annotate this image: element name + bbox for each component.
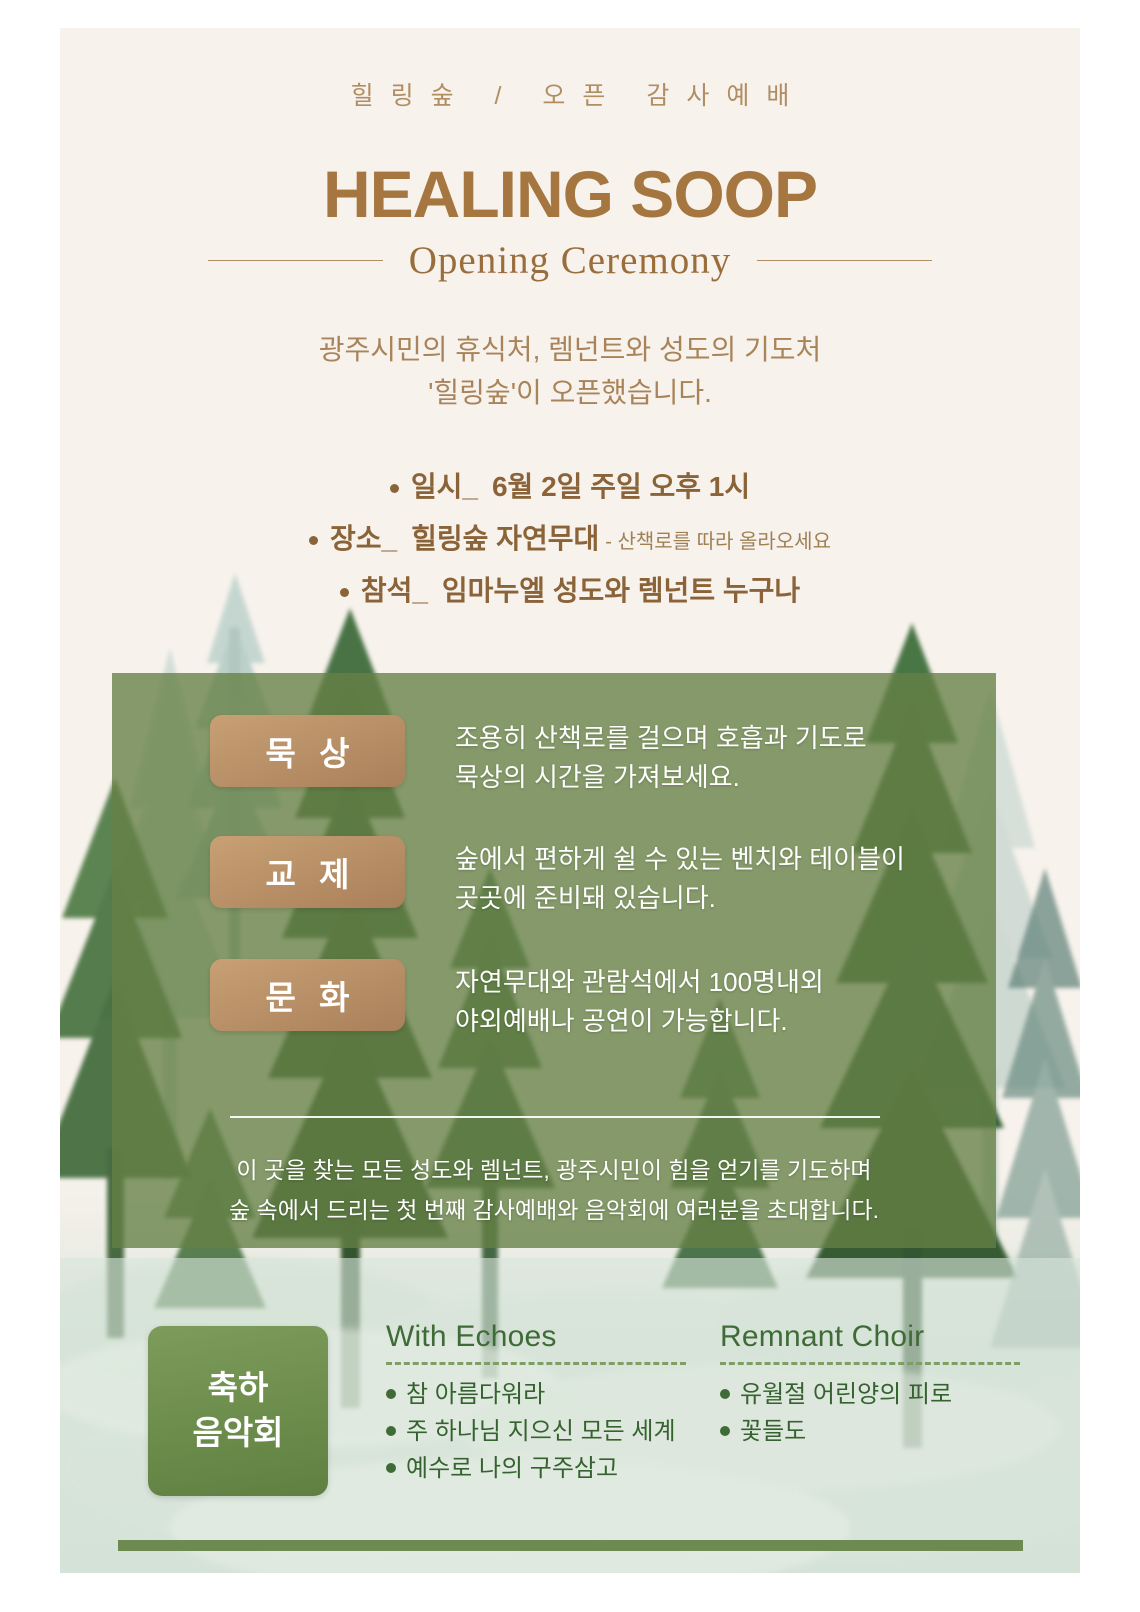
detail-row-date: 일시_6월 2일 주일 오후 1시 (60, 465, 1080, 505)
song-title: 유월절 어린양의 피로 (740, 1381, 952, 1408)
setlist-with-echoes: With Echoes 참 아름다워라 주 하나님 지으신 모든 세계 예수로 … (386, 1320, 686, 1488)
poster-canvas: 힐링숲 / 오픈 감사예배 HEALING SOOP Opening Cerem… (60, 28, 1080, 1573)
bullet-dot-icon (720, 1389, 730, 1399)
bullet-dot-icon (309, 536, 318, 545)
rule-right (757, 260, 932, 261)
category-desc-line-2: 묵상의 시간을 가져보세요. (455, 758, 867, 797)
lead-line-1: 광주시민의 휴식처, 렘넌트와 성도의 기도처 (60, 328, 1080, 371)
detail-note: - 산책로를 따라 올라오세요 (605, 531, 831, 553)
event-details: 일시_6월 2일 주일 오후 1시 장소_힐링숲 자연무대- 산책로를 따라 올… (60, 465, 1080, 621)
concert-chip-line-1: 축하 (208, 1366, 269, 1411)
bullet-dot-icon (386, 1463, 396, 1473)
song-title: 예수로 나의 구주삼고 (406, 1455, 618, 1482)
page-subtitle: Opening Ceremony (409, 238, 732, 283)
setlist-title: Remnant Choir (720, 1320, 1020, 1354)
eyebrow-text: 힐링숲 / 오픈 감사예배 (60, 76, 1080, 112)
bullet-dot-icon (386, 1426, 396, 1436)
song-title: 꽃들도 (740, 1418, 806, 1445)
detail-label: 참석_ (361, 575, 428, 606)
detail-label: 장소_ (330, 523, 397, 554)
setlist-song: 참 아름다워라 (386, 1376, 686, 1413)
detail-row-place: 장소_힐링숲 자연무대- 산책로를 따라 올라오세요 (60, 517, 1080, 557)
detail-value: 6월 2일 주일 오후 1시 (492, 471, 750, 502)
info-panel: 묵 상 조용히 산책로를 걸으며 호흡과 기도로 묵상의 시간을 가져보세요. … (112, 673, 996, 1248)
bullet-dot-icon (390, 484, 399, 493)
lead-paragraph: 광주시민의 휴식처, 렘넌트와 성도의 기도처 '힐링숲'이 오픈했습니다. (60, 328, 1080, 415)
setlist-divider (386, 1362, 686, 1365)
rule-left (208, 260, 383, 261)
bullet-dot-icon (720, 1426, 730, 1436)
song-title: 주 하나님 지으신 모든 세계 (406, 1418, 676, 1445)
category-desc-line-2: 곳곳에 준비돼 있습니다. (455, 879, 905, 918)
subtitle-row: Opening Ceremony (60, 238, 1080, 283)
detail-row-attendees: 참석_임마누엘 성도와 렘넌트 누구나 (60, 569, 1080, 609)
setlist-remnant-choir: Remnant Choir 유월절 어린양의 피로 꽃들도 (720, 1320, 1020, 1450)
category-row-culture: 문 화 자연무대와 관람석에서 100명내외 야외예배나 공연이 가능합니다. (210, 959, 824, 1041)
invitation-line-2: 숲 속에서 드리는 첫 번째 감사예배와 음악회에 여러분을 초대합니다. (112, 1190, 996, 1230)
lead-line-2: '힐링숲'이 오픈했습니다. (60, 371, 1080, 414)
category-chip: 묵 상 (210, 715, 405, 787)
bullet-dot-icon (386, 1389, 396, 1399)
category-desc-line-1: 조용히 산책로를 걸으며 호흡과 기도로 (455, 719, 867, 758)
setlist-song: 유월절 어린양의 피로 (720, 1376, 1020, 1413)
category-description: 조용히 산책로를 걸으며 호흡과 기도로 묵상의 시간을 가져보세요. (455, 715, 867, 797)
category-description: 자연무대와 관람석에서 100명내외 야외예배나 공연이 가능합니다. (455, 959, 824, 1041)
concert-section: 축하 음악회 With Echoes 참 아름다워라 주 하나님 지으신 모든 … (60, 1298, 1080, 1528)
concert-chip: 축하 음악회 (148, 1326, 328, 1496)
category-desc-line-1: 자연무대와 관람석에서 100명내외 (455, 963, 824, 1002)
panel-invitation-text: 이 곳을 찾는 모든 성도와 렘넌트, 광주시민이 힘을 얻기를 기도하며 숲 … (112, 1150, 996, 1231)
concert-chip-line-2: 음악회 (192, 1411, 283, 1456)
detail-value: 힐링숲 자연무대 (411, 523, 599, 554)
category-description: 숲에서 편하게 쉴 수 있는 벤치와 테이블이 곳곳에 준비돼 있습니다. (455, 836, 905, 918)
category-desc-line-1: 숲에서 편하게 쉴 수 있는 벤치와 테이블이 (455, 840, 905, 879)
detail-label: 일시_ (411, 471, 478, 502)
category-desc-line-2: 야외예배나 공연이 가능합니다. (455, 1002, 824, 1041)
setlist-title: With Echoes (386, 1320, 686, 1354)
setlist-song: 예수로 나의 구주삼고 (386, 1450, 686, 1487)
detail-value: 임마누엘 성도와 렘넌트 누구나 (442, 575, 800, 606)
setlist-divider (720, 1362, 1020, 1365)
setlist-song: 꽃들도 (720, 1413, 1020, 1450)
category-row-meditation: 묵 상 조용히 산책로를 걸으며 호흡과 기도로 묵상의 시간을 가져보세요. (210, 715, 867, 797)
invitation-line-1: 이 곳을 찾는 모든 성도와 렘넌트, 광주시민이 힘을 얻기를 기도하며 (112, 1150, 996, 1190)
bottom-accent-bar (118, 1540, 1023, 1551)
bullet-dot-icon (340, 588, 349, 597)
panel-divider (230, 1116, 880, 1118)
page-title: HEALING SOOP (60, 156, 1080, 232)
category-chip: 교 제 (210, 836, 405, 908)
category-row-fellowship: 교 제 숲에서 편하게 쉴 수 있는 벤치와 테이블이 곳곳에 준비돼 있습니다… (210, 836, 905, 918)
category-chip: 문 화 (210, 959, 405, 1031)
song-title: 참 아름다워라 (406, 1381, 545, 1408)
setlist-song: 주 하나님 지으신 모든 세계 (386, 1413, 686, 1450)
